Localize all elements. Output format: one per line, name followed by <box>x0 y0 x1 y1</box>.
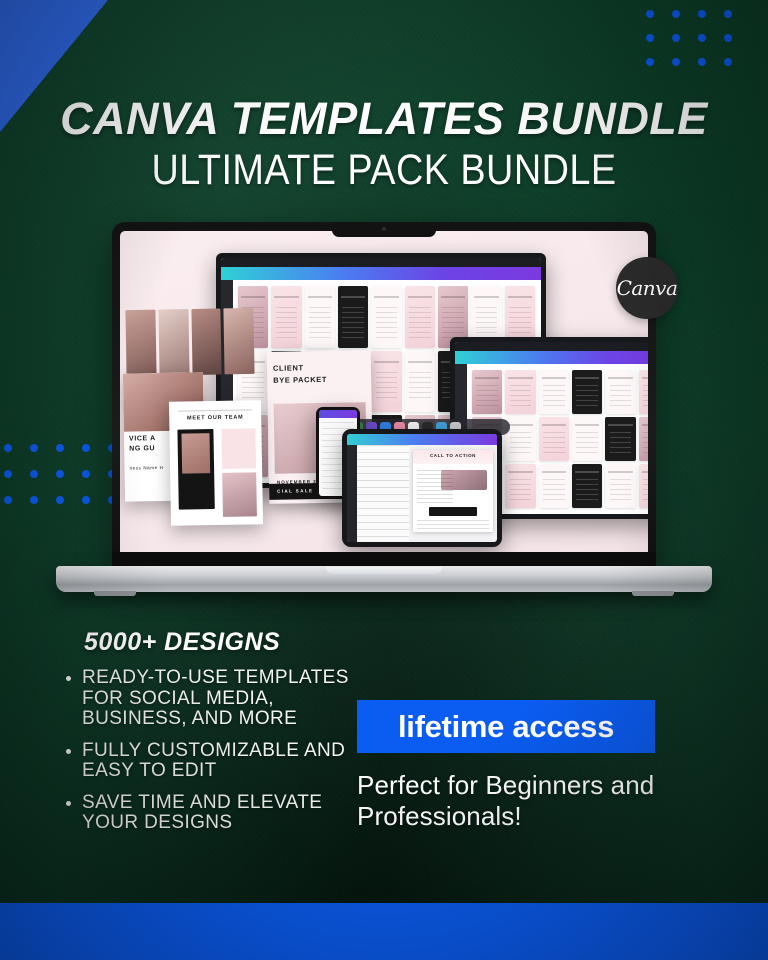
tablet-rail <box>347 445 357 542</box>
team-member-dark-card <box>177 429 214 510</box>
dot-grid-top-right <box>646 10 750 82</box>
browser-topbar-side <box>455 342 648 351</box>
decor-dot <box>646 58 654 66</box>
laptop-foot-right <box>632 591 674 596</box>
template-card[interactable] <box>539 370 569 414</box>
team-divider <box>178 409 252 411</box>
template-card[interactable] <box>539 464 569 508</box>
bottom-accent-bar <box>0 903 768 960</box>
doc-body-lines <box>417 470 453 506</box>
decor-dot <box>698 10 706 18</box>
designs-count-heading: 5000+ DESIGNS <box>84 628 280 657</box>
template-card[interactable] <box>371 286 401 348</box>
team-member-pink-card <box>221 428 256 469</box>
page-subtitle: ULTIMATE PACK BUNDLE <box>46 149 722 192</box>
photo-strip <box>125 308 254 376</box>
template-card[interactable] <box>572 417 602 461</box>
client-banner-text: CIAL SALE O <box>277 488 321 494</box>
guide-line2: NG GU <box>129 445 155 452</box>
decor-dot <box>646 10 654 18</box>
template-card[interactable] <box>639 464 648 508</box>
template-card[interactable] <box>639 370 648 414</box>
decor-dot <box>698 34 706 42</box>
tablet-doc-title: CALL TO ACTION <box>413 453 493 458</box>
decor-dot <box>30 496 38 504</box>
laptop-base <box>56 566 712 592</box>
team-card-title: MEET OUR TEAM <box>177 414 254 421</box>
tablet-appbar <box>347 434 497 445</box>
canva-logo-badge: Canva <box>616 257 678 319</box>
template-card[interactable] <box>405 351 435 413</box>
template-card[interactable] <box>539 417 569 461</box>
page-title: CANVA TEMPLATES BUNDLE <box>0 96 768 141</box>
guide-line3: ness Name H <box>129 465 163 471</box>
decor-dot <box>646 34 654 42</box>
team-member-dark-photo <box>181 433 210 473</box>
template-card[interactable] <box>505 417 535 461</box>
laptop-hinge <box>112 552 656 566</box>
doc-footer-lines <box>417 520 489 530</box>
tablet-document: CALL TO ACTION <box>413 450 493 532</box>
benefits-list: READY-TO-USE TEMPLATES FOR SOCIAL MEDIA,… <box>60 668 360 845</box>
lifetime-access-label: lifetime access <box>398 711 614 742</box>
decor-dot <box>672 10 680 18</box>
template-card[interactable] <box>572 464 602 508</box>
tablet-screen: CALL TO ACTION <box>347 434 497 542</box>
template-card[interactable] <box>605 417 635 461</box>
poster-canvas: CANVA TEMPLATES BUNDLE ULTIMATE PACK BUN… <box>0 0 768 960</box>
template-card[interactable] <box>605 370 635 414</box>
decor-dot <box>4 470 12 478</box>
benefit-item: SAVE TIME AND ELEVATE YOUR DESIGNS <box>60 793 360 834</box>
laptop-notch-icon <box>332 222 436 237</box>
guide-line1: VICE A <box>129 435 156 442</box>
lifetime-access-badge: lifetime access <box>357 700 655 753</box>
laptop-foot-left <box>94 591 136 596</box>
decor-dot <box>672 34 680 42</box>
laptop-mockup: VICE A NG GU ness Name H CLIENT BYE PACK… <box>56 222 712 592</box>
client-line2: BYE PACKET <box>273 375 327 385</box>
team-member-photo <box>222 472 257 517</box>
title-block: CANVA TEMPLATES BUNDLE ULTIMATE PACK BUN… <box>0 96 768 192</box>
tablet-layers-panel <box>357 445 409 542</box>
template-card[interactable] <box>605 464 635 508</box>
paper-team-card: MEET OUR TEAM <box>169 400 263 526</box>
template-card[interactable] <box>405 286 435 348</box>
template-card[interactable] <box>305 286 335 348</box>
offer-tagline: Perfect for Beginners and Professionals! <box>357 770 687 831</box>
decor-dot <box>724 34 732 42</box>
laptop-screen: VICE A NG GU ness Name H CLIENT BYE PACK… <box>120 231 648 558</box>
canva-appbar-side <box>455 351 648 364</box>
canva-appbar <box>221 267 541 280</box>
laptop-lid: VICE A NG GU ness Name H CLIENT BYE PACK… <box>112 222 656 570</box>
decor-dot <box>30 444 38 452</box>
canva-logo-text: Canva <box>617 276 678 300</box>
template-card[interactable] <box>505 464 535 508</box>
decor-dot <box>724 58 732 66</box>
doc-cta-button <box>429 507 477 516</box>
decor-dot <box>4 444 12 452</box>
template-card[interactable] <box>371 351 401 413</box>
decor-dot <box>4 496 12 504</box>
phone-appbar <box>319 410 357 418</box>
template-card[interactable] <box>271 286 301 348</box>
browser-topbar <box>221 258 541 267</box>
template-card[interactable] <box>639 417 648 461</box>
decor-dot <box>724 10 732 18</box>
template-card[interactable] <box>572 370 602 414</box>
device-tablet: CALL TO ACTION <box>342 429 502 547</box>
template-card[interactable] <box>505 370 535 414</box>
benefit-item: READY-TO-USE TEMPLATES FOR SOCIAL MEDIA,… <box>60 668 360 730</box>
template-card[interactable] <box>472 370 502 414</box>
benefit-item: FULLY CUSTOMIZABLE AND EASY TO EDIT <box>60 741 360 782</box>
template-card[interactable] <box>338 286 368 348</box>
decor-dot <box>672 58 680 66</box>
decor-dot <box>698 58 706 66</box>
client-line1: CLIENT <box>273 363 304 373</box>
decor-dot <box>30 470 38 478</box>
